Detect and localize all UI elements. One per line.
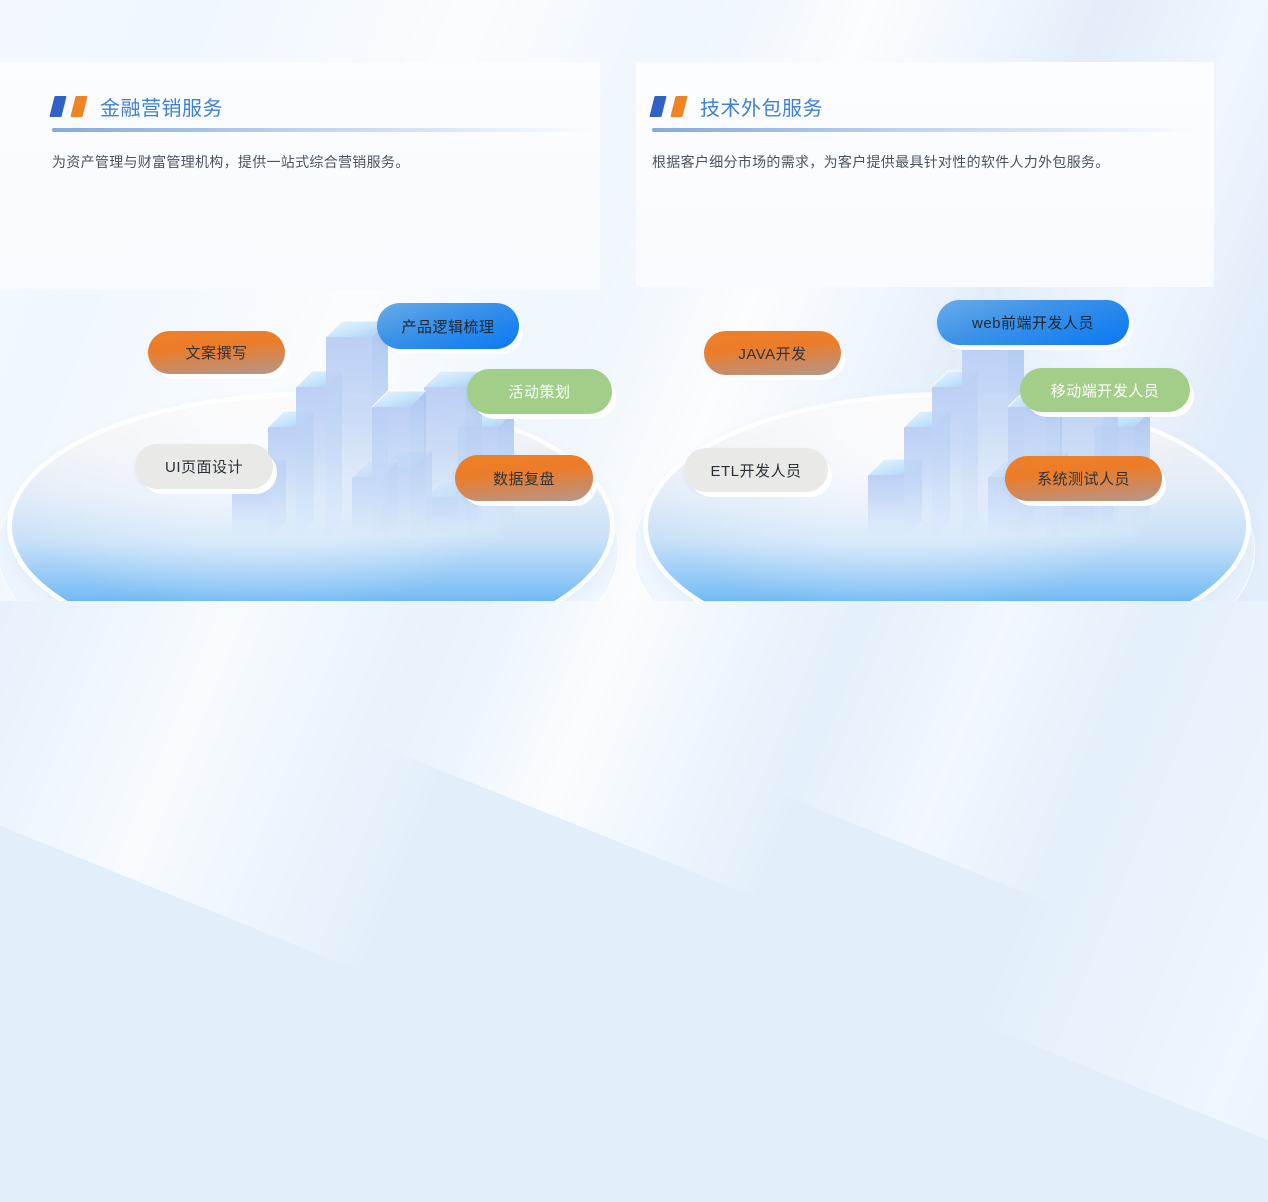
pill-label-green[interactable]: 活动策划 <box>467 369 612 414</box>
slash-mark-blue-icon <box>49 96 66 117</box>
pill-label-orange[interactable]: 文案撰写 <box>148 331 285 374</box>
pill-label-text: 数据复盘 <box>493 468 555 489</box>
pill-label-gray[interactable]: UI页面设计 <box>135 444 273 489</box>
pill-label-text: 活动策划 <box>508 381 570 402</box>
slash-mark-orange-icon <box>70 96 87 117</box>
pill-label-blue[interactable]: web前端开发人员 <box>937 300 1129 345</box>
slash-mark-orange-icon <box>670 96 687 117</box>
iso-bar <box>372 391 426 553</box>
left-panel-divider <box>52 128 592 132</box>
pill-label-text: 系统测试人员 <box>1037 468 1130 489</box>
left-bar-cluster <box>0 285 636 601</box>
pill-label-blue[interactable]: 产品逻辑梳理 <box>377 303 519 349</box>
pill-label-orange[interactable]: 数据复盘 <box>455 455 593 501</box>
pill-label-text: ETL开发人员 <box>710 460 801 481</box>
right-panel-divider <box>652 128 1200 132</box>
panel-financial-marketing: 金融营销服务 为资产管理与财富管理机构，提供一站式综合营销服务。 <box>0 0 636 601</box>
pill-label-orange[interactable]: JAVA开发 <box>704 331 841 375</box>
pill-label-text: JAVA开发 <box>738 343 806 364</box>
left-panel-title: 金融营销服务 <box>100 92 223 121</box>
pill-label-green[interactable]: 移动端开发人员 <box>1020 368 1190 412</box>
pill-label-text: UI页面设计 <box>165 456 243 477</box>
pill-label-text: 文案撰写 <box>185 342 247 363</box>
right-panel-title: 技术外包服务 <box>700 92 823 121</box>
right-panel-description: 根据客户细分市场的需求，为客户提供最具针对性的软件人力外包服务。 <box>652 152 1110 172</box>
pill-label-gray[interactable]: ETL开发人员 <box>684 448 828 492</box>
left-panel-header: 金融营销服务 <box>52 92 223 121</box>
pill-label-text: 移动端开发人员 <box>1051 380 1160 401</box>
pill-label-orange[interactable]: 系统测试人员 <box>1005 456 1162 501</box>
pill-label-text: web前端开发人员 <box>972 312 1094 333</box>
slash-mark-blue-icon <box>649 96 666 117</box>
left-panel-illustration-stage <box>0 285 636 601</box>
pill-label-text: 产品逻辑梳理 <box>401 316 494 337</box>
left-panel-description: 为资产管理与财富管理机构，提供一站式综合营销服务。 <box>52 152 410 172</box>
right-panel-header: 技术外包服务 <box>652 92 823 121</box>
